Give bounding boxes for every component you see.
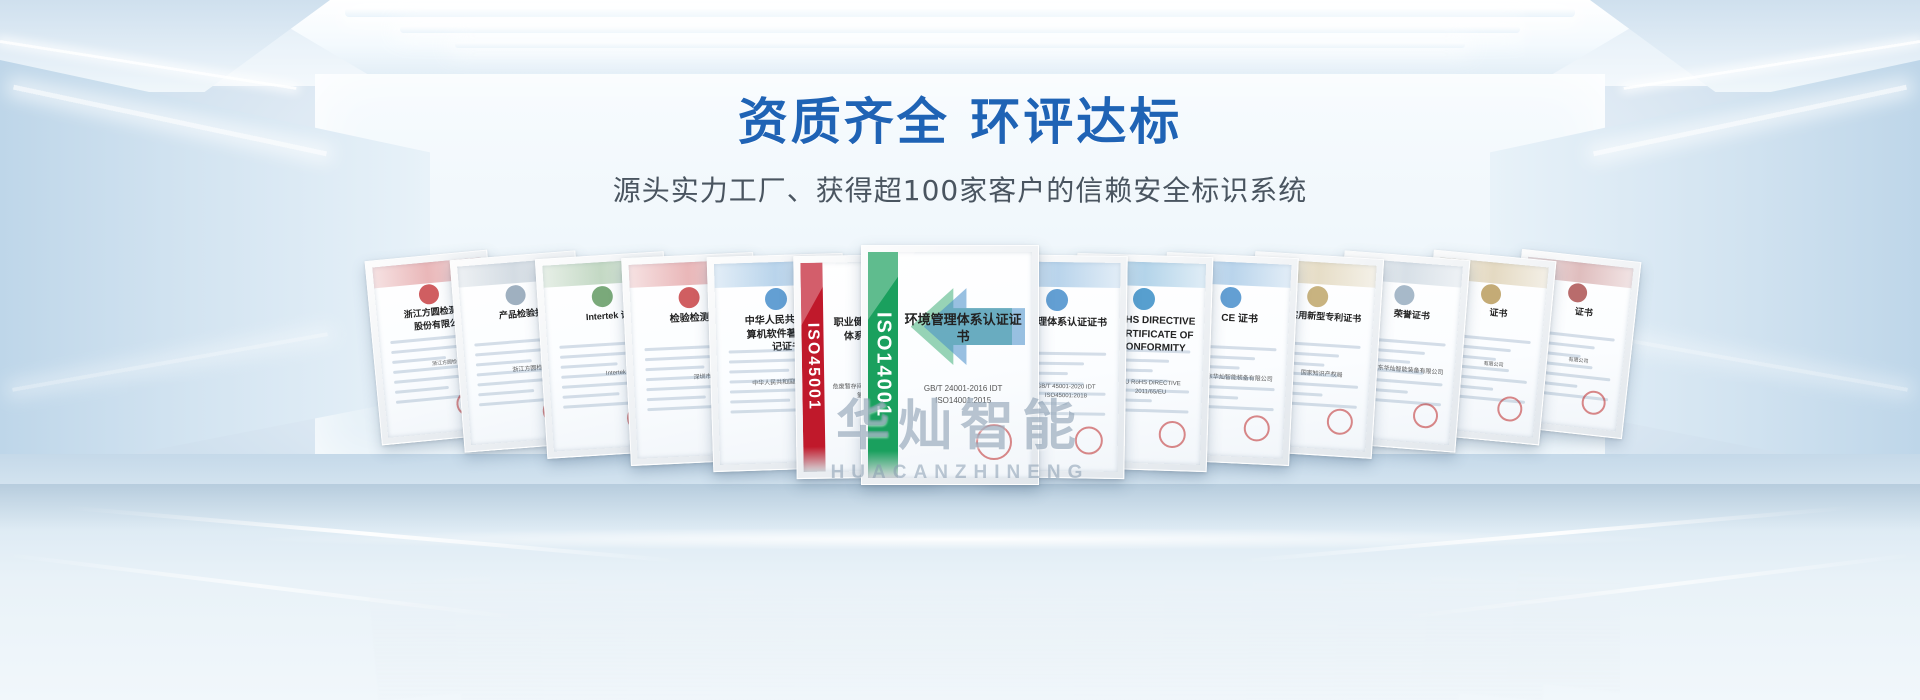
certificate-color-band: ISO14001 xyxy=(868,252,898,478)
certificate-standard-code: ISO45001 xyxy=(803,323,822,411)
ceiling-light-strip-1 xyxy=(345,8,1575,17)
certificate-logo-icon xyxy=(591,286,613,308)
certificate-gallery: 浙江方圆检测集团股份有限公司浙江方圆检产品检验报告浙江方圆检测Intertek … xyxy=(300,235,1620,485)
certificate-corner-accent xyxy=(868,252,915,320)
certificate-title: 证书 xyxy=(1458,304,1537,323)
certificate-logo-icon xyxy=(1046,289,1068,311)
certificate-color-band: ISO45001 xyxy=(800,263,826,472)
certificate-seal-icon xyxy=(1496,396,1523,423)
certificate-seal-icon xyxy=(976,424,1012,460)
certificate-logo-icon xyxy=(1394,285,1416,307)
certificate-title: 荣誉证书 xyxy=(1371,306,1452,324)
ceiling-panel xyxy=(180,0,1740,74)
certificate-image: ISO14001环境管理体系认证证书GB/T 24001-2016 IDT IS… xyxy=(868,252,1032,478)
certificate-frame[interactable]: ISO14001环境管理体系认证证书GB/T 24001-2016 IDT IS… xyxy=(861,245,1039,485)
certificate-seal-icon xyxy=(1159,420,1187,448)
certificate-standard-code: ISO14001 xyxy=(871,312,894,418)
certificate-logo-icon xyxy=(1133,288,1156,311)
certificate-reflections xyxy=(300,535,1620,700)
floor-shadow-band xyxy=(0,484,1920,530)
page-subtitle: 源头实力工厂、获得超100家客户的信赖安全标识系统 xyxy=(0,169,1920,209)
certificate-logo-icon xyxy=(765,288,788,311)
certificate-title: 环境管理体系认证证书 xyxy=(904,311,1022,346)
certificate-logo-icon xyxy=(1480,284,1502,306)
certificate-logo-icon xyxy=(1220,287,1242,309)
certificate-logo-icon xyxy=(505,285,527,307)
ceiling-light-strip-3 xyxy=(455,42,1465,48)
certificate-logo-icon xyxy=(1307,286,1329,308)
ceiling-light-strip-2 xyxy=(400,26,1520,33)
certificate-seal-icon xyxy=(1243,415,1270,442)
certificate-reflection xyxy=(1507,571,1638,693)
headline-block: 资质齐全 环评达标 源头实力工厂、获得超100家客户的信赖安全标识系统 xyxy=(0,92,1920,209)
certificate-logo-icon xyxy=(678,287,700,309)
wall-left-glow-2 xyxy=(12,332,328,392)
certificate-seal-icon xyxy=(1412,402,1439,429)
page-title: 资质齐全 环评达标 xyxy=(0,92,1920,153)
certificate-title: 证书 xyxy=(1546,301,1623,321)
promo-banner: 资质齐全 环评达标 源头实力工厂、获得超100家客户的信赖安全标识系统 浙江方圆… xyxy=(0,0,1920,700)
certificate-seal-icon xyxy=(1074,426,1102,454)
wall-right-glow-2 xyxy=(1592,332,1908,392)
certificate-body-text: GB/T 24001-2016 IDT ISO14001:2015 xyxy=(904,383,1022,407)
certificate-logo-icon xyxy=(1567,283,1588,304)
certificate-logo-icon xyxy=(418,284,440,306)
